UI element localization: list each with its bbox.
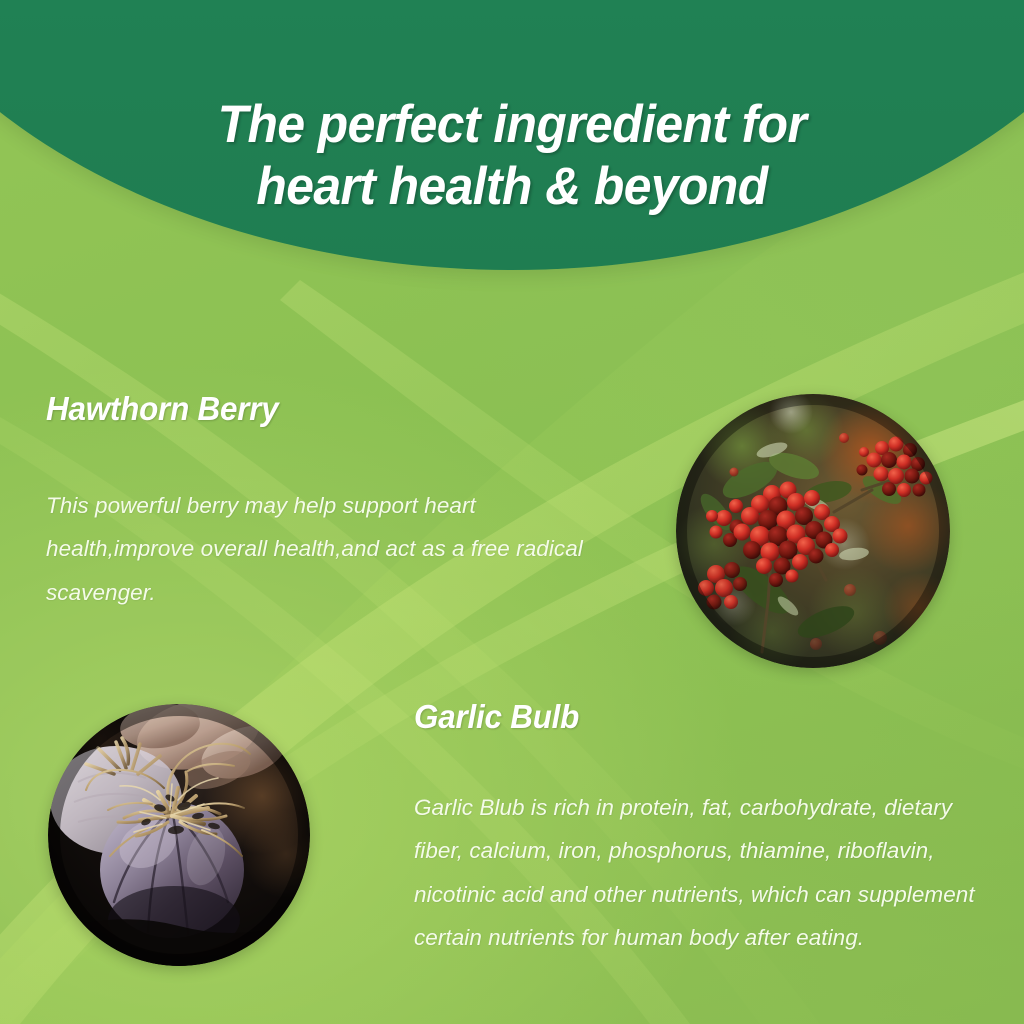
section-body-garlic-bulb: Garlic Blub is rich in protein, fat, car… xyxy=(414,786,1004,960)
section-heading-hawthorn-berry: Hawthorn Berry xyxy=(46,390,597,428)
section-hawthorn-berry: Hawthorn Berry This powerful berry may h… xyxy=(46,390,626,614)
page-title-line-2: heart health & beyond xyxy=(106,156,918,219)
page-title: The perfect ingredient for heart health … xyxy=(31,94,994,219)
garlic-bulb-photo xyxy=(48,704,310,966)
section-garlic-bulb: Garlic Bulb Garlic Blub is rich in prote… xyxy=(414,698,1004,960)
section-heading-garlic-bulb: Garlic Bulb xyxy=(414,698,975,736)
page-title-line-1: The perfect ingredient for xyxy=(106,94,918,157)
section-body-hawthorn-berry: This powerful berry may help support hea… xyxy=(46,484,591,614)
ingredient-infographic-poster: The perfect ingredient for heart health … xyxy=(0,0,1024,1024)
hawthorn-berry-photo xyxy=(676,394,950,668)
